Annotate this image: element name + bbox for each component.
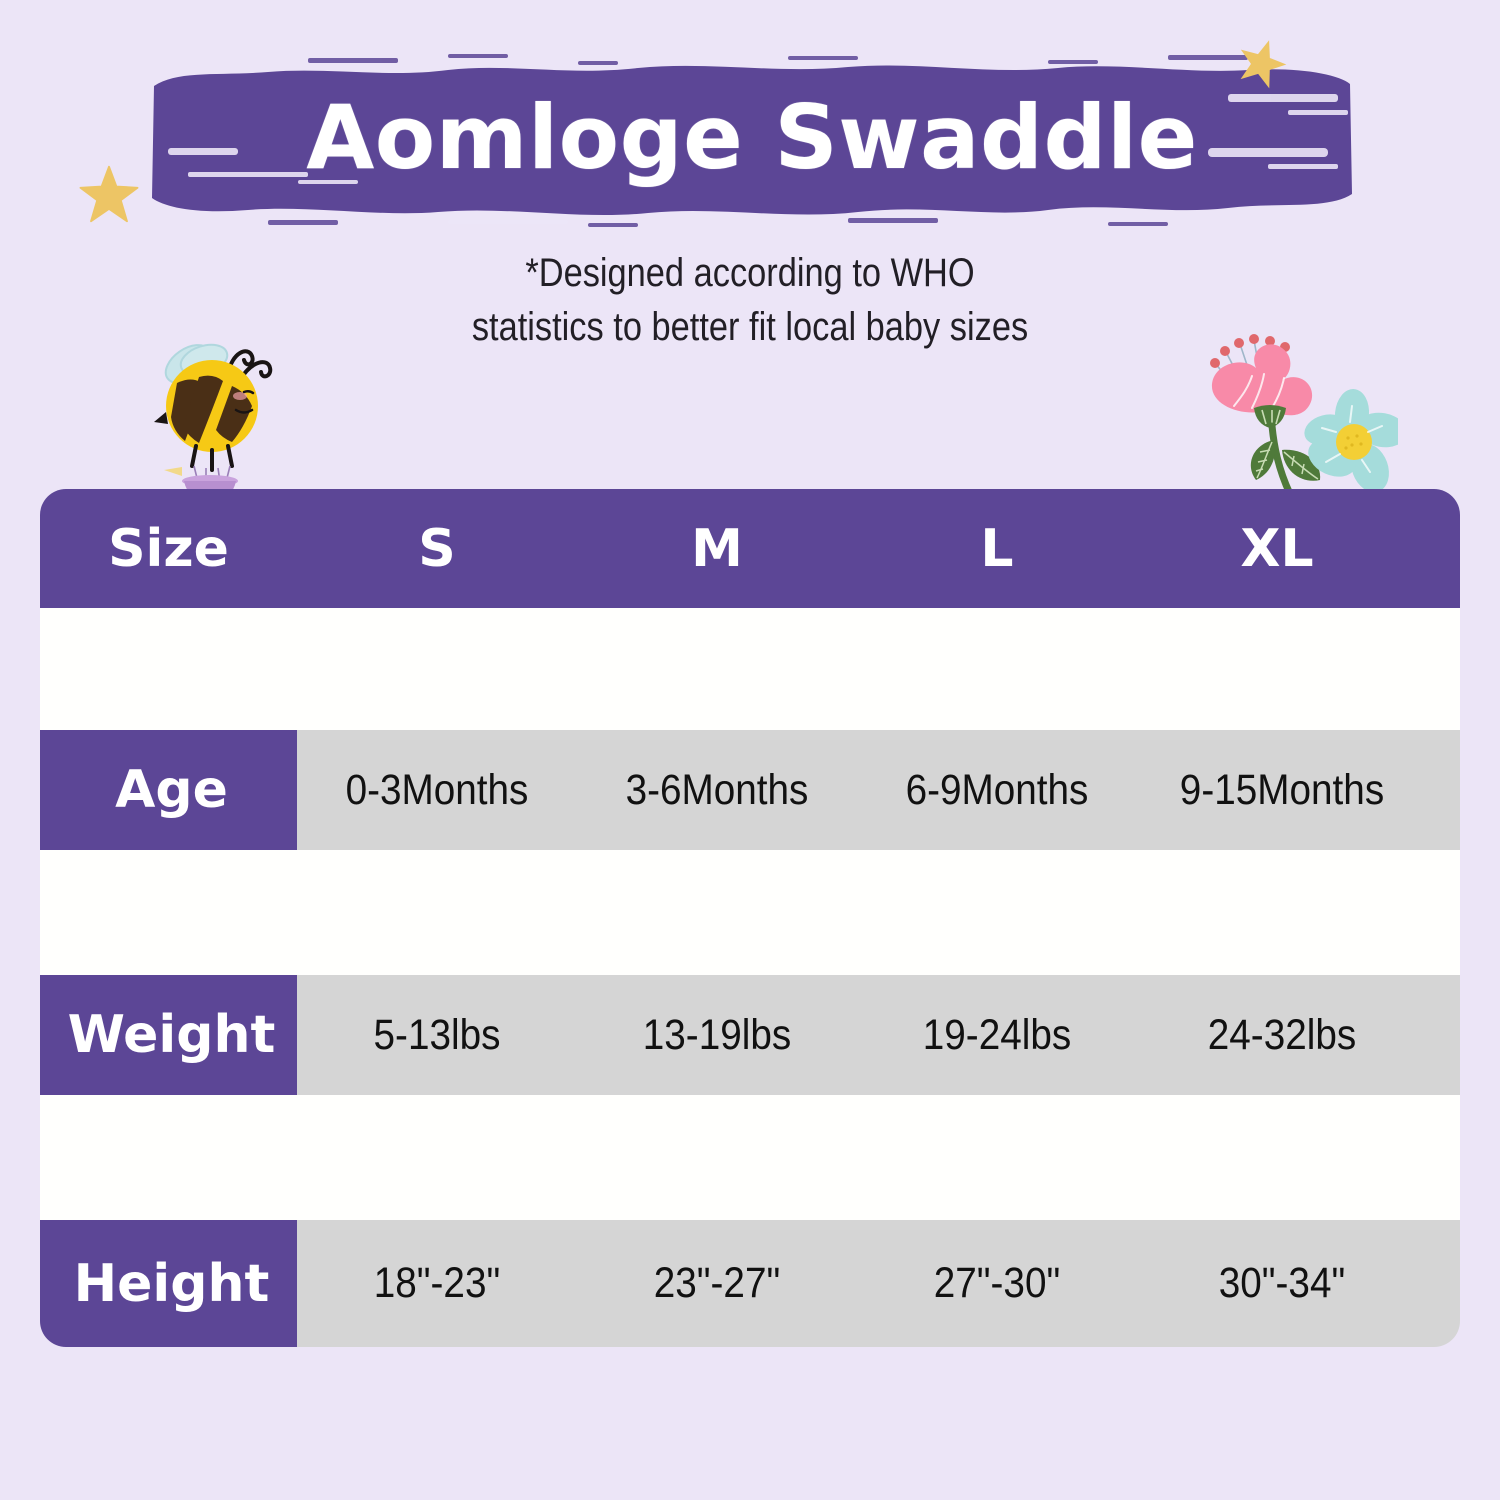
row-values-age: 0-3Months 3-6Months 6-9Months 9-15Months bbox=[297, 730, 1460, 850]
cell-weight-xl: 24-32lbs bbox=[1152, 1011, 1413, 1060]
cell-weight-m: 13-19lbs bbox=[591, 1011, 843, 1060]
header-cell-xl: XL bbox=[1137, 519, 1417, 579]
cell-weight-s: 5-13lbs bbox=[311, 1011, 563, 1060]
row-separator-band bbox=[40, 850, 1460, 975]
row-values-height: 18"-23" 23"-27" 27"-30" 30"-34" bbox=[297, 1220, 1460, 1347]
cell-height-l: 27"-30" bbox=[871, 1259, 1123, 1308]
table-row-height: Height 18"-23" 23"-27" 27"-30" 30"-34" bbox=[40, 1220, 1460, 1347]
flowers-illustration bbox=[1186, 322, 1398, 498]
cell-height-m: 23"-27" bbox=[591, 1259, 843, 1308]
row-label-age: Age bbox=[40, 730, 297, 850]
bee-illustration bbox=[136, 326, 288, 496]
cell-height-xl: 30"-34" bbox=[1152, 1259, 1413, 1308]
size-chart-table: Size S M L XL Age 0-3Months 3-6Months 6-… bbox=[40, 489, 1460, 1347]
star-icon bbox=[78, 163, 140, 225]
row-values-weight: 5-13lbs 13-19lbs 19-24lbs 24-32lbs bbox=[297, 975, 1460, 1095]
title-banner: Aomloge Swaddle bbox=[148, 52, 1356, 228]
header-cell-s: S bbox=[297, 519, 577, 579]
cell-age-l: 6-9Months bbox=[871, 766, 1123, 815]
cell-age-xl: 9-15Months bbox=[1152, 766, 1413, 815]
row-label-weight: Weight bbox=[40, 975, 297, 1095]
size-chart-page: { "page": { "background_color": "#ece5f7… bbox=[0, 0, 1500, 1500]
row-separator-band bbox=[40, 608, 1460, 730]
header-cell-size: Size bbox=[40, 519, 297, 579]
page-title: Aomloge Swaddle bbox=[148, 52, 1356, 228]
row-separator-band bbox=[40, 1095, 1460, 1220]
header-cell-m: M bbox=[577, 519, 857, 579]
cell-height-s: 18"-23" bbox=[311, 1259, 563, 1308]
subtitle-line-1: *Designed according to WHO bbox=[105, 246, 1395, 300]
cell-weight-l: 19-24lbs bbox=[871, 1011, 1123, 1060]
table-row-weight: Weight 5-13lbs 13-19lbs 19-24lbs 24-32lb… bbox=[40, 975, 1460, 1095]
cell-age-s: 0-3Months bbox=[311, 766, 563, 815]
table-header-row: Size S M L XL bbox=[40, 489, 1460, 608]
cell-age-m: 3-6Months bbox=[591, 766, 843, 815]
header-cell-l: L bbox=[857, 519, 1137, 579]
row-label-height: Height bbox=[40, 1220, 297, 1347]
table-row-age: Age 0-3Months 3-6Months 6-9Months 9-15Mo… bbox=[40, 730, 1460, 850]
